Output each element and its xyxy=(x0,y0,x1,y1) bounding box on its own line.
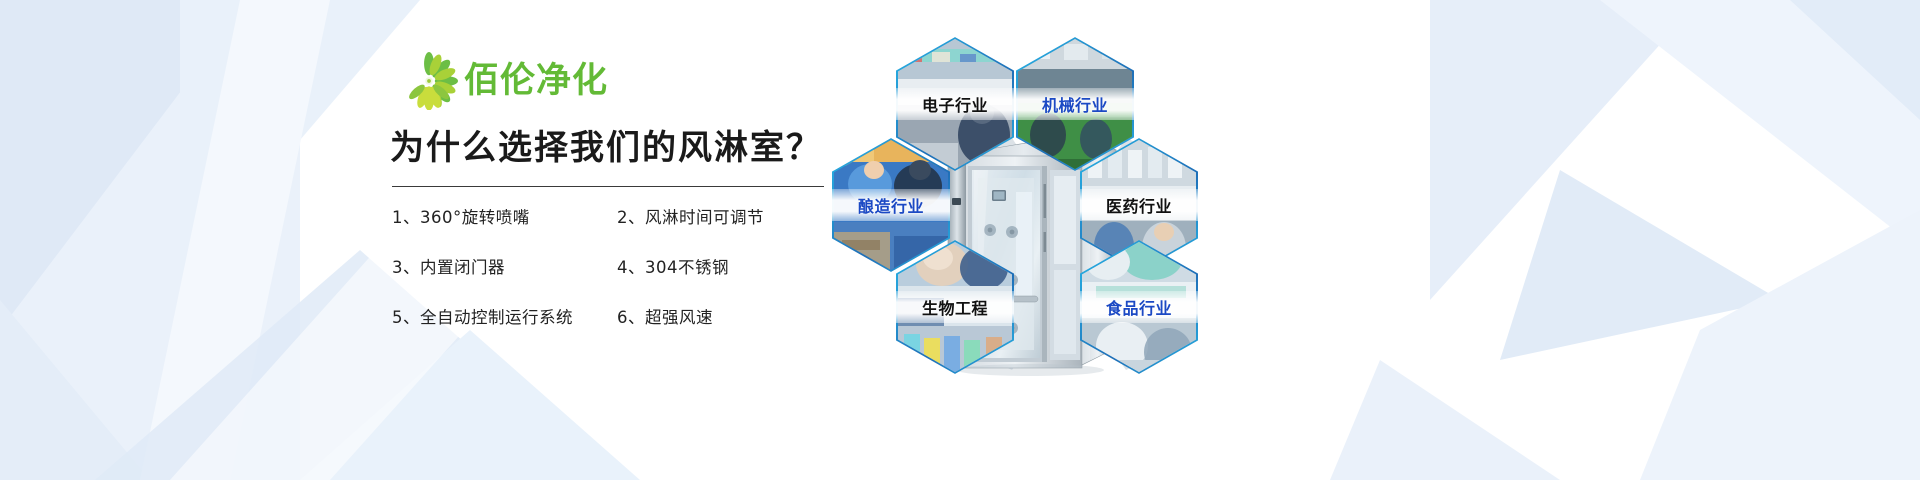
feature-item-5: 5、全自动控制运行系统 xyxy=(392,309,617,327)
green-flower-icon xyxy=(400,52,458,110)
hexagon-label-band: 酿造行业 xyxy=(832,189,950,221)
hexagon-label-bioengineering: 生物工程 xyxy=(922,295,988,319)
hexagon-label-electronics: 电子行业 xyxy=(922,92,988,116)
hexagon-label-band: 食品行业 xyxy=(1080,291,1198,323)
title-divider xyxy=(392,186,824,187)
feature-list: 1、360°旋转喷嘴 2、风淋时间可调节 3、内置闭门器 4、304不锈钢 5、… xyxy=(392,209,832,327)
hexagon-label-band: 医药行业 xyxy=(1080,189,1198,221)
industry-hexagon-cluster: 电子行业 xyxy=(800,0,1360,480)
hexagon-label-band: 生物工程 xyxy=(896,291,1014,323)
hexagon-label-brewing: 酿造行业 xyxy=(858,193,924,217)
hexagon-label-machinery: 机械行业 xyxy=(1042,92,1108,116)
flower-logo-svg xyxy=(400,52,458,110)
feature-item-1: 1、360°旋转喷嘴 xyxy=(392,209,617,227)
brand-name: 佰伦净化 xyxy=(464,64,608,99)
hexagon-label-pharma: 医药行业 xyxy=(1106,193,1172,217)
promo-banner: 佰伦净化 为什么选择我们的风淋室？ 1、360°旋转喷嘴 2、风淋时间可调节 3… xyxy=(0,0,1920,480)
hexagon-label-food: 食品行业 xyxy=(1106,295,1172,319)
hexagon-label-band: 机械行业 xyxy=(1016,88,1134,120)
hexagon-label-band: 电子行业 xyxy=(896,88,1014,120)
feature-item-3: 3、内置闭门器 xyxy=(392,259,617,277)
